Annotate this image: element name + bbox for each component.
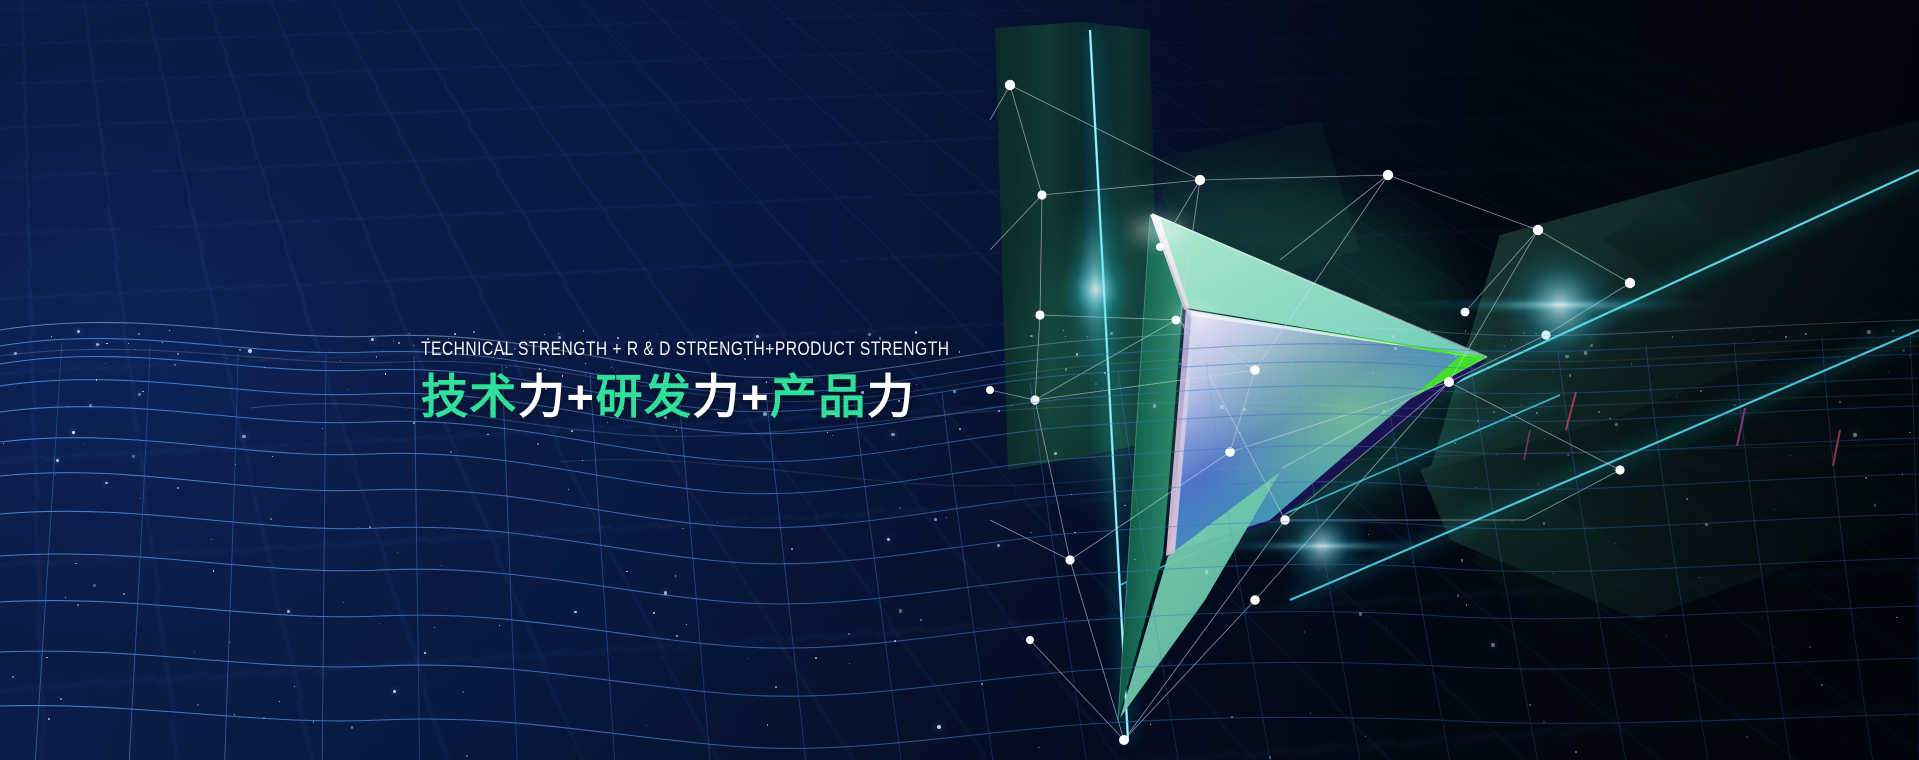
particle-dot — [959, 428, 961, 430]
particle-dot — [1134, 559, 1135, 560]
particle-dot — [1615, 543, 1616, 544]
particle-dot — [1700, 390, 1702, 392]
particle-dot — [1569, 374, 1571, 376]
particle-dot — [1538, 483, 1539, 484]
particle-dot — [242, 435, 245, 438]
particle-dot — [887, 538, 890, 541]
particle-dot — [1543, 522, 1545, 524]
particle-dot — [868, 333, 871, 336]
particle-dot — [848, 633, 850, 635]
particle-dot — [60, 698, 62, 700]
particle-dot — [1493, 411, 1495, 413]
particle-dot — [1344, 598, 1345, 599]
particle-dot — [1746, 736, 1748, 738]
particle-dot — [287, 610, 290, 613]
particle-dot — [1666, 635, 1667, 636]
particle-dot — [899, 507, 901, 509]
particle-dot — [1853, 433, 1857, 437]
particle-dot — [1553, 371, 1554, 372]
particle-dot — [84, 444, 85, 445]
particle-dot — [383, 350, 384, 351]
particle-dot — [646, 725, 648, 727]
particle-dot — [1038, 747, 1039, 748]
lens-flares — [1058, 175, 1710, 592]
particle-dot — [1839, 401, 1841, 403]
particle-dot — [1504, 346, 1505, 347]
particle-dot — [1705, 523, 1708, 526]
eyebrow-tagline: TECHNICAL STRENGTH + R & D STRENGTH+PROD… — [421, 340, 950, 360]
particle-dot — [1888, 371, 1889, 372]
particle-dot — [424, 652, 427, 655]
face-inner-iridescent — [1170, 312, 1460, 552]
particle-dot — [263, 717, 265, 719]
particle-dot — [1552, 573, 1554, 575]
node-network — [990, 85, 1630, 740]
particle-dot — [1307, 362, 1308, 363]
particle-dot — [832, 435, 833, 436]
particle-dot — [132, 455, 135, 458]
particle-dot — [313, 721, 314, 722]
particle-dot — [1226, 342, 1227, 343]
particle-dot — [51, 336, 52, 337]
fold-edge-inner — [1166, 308, 1196, 556]
particle-dot — [626, 571, 627, 572]
particle-dot — [1429, 330, 1431, 332]
particle-dot — [1809, 646, 1811, 648]
particle-dot — [1785, 336, 1787, 338]
particle-dot — [1346, 330, 1349, 333]
particle-dot — [1394, 347, 1397, 350]
particle-dot — [1104, 372, 1106, 374]
particle-dot — [1206, 526, 1207, 527]
particle-dot — [1220, 405, 1223, 408]
particle-dot — [1761, 617, 1762, 618]
particle-dot — [1392, 335, 1395, 338]
particle-dot — [385, 373, 387, 375]
network-nodes — [986, 80, 1635, 745]
particle-dot — [393, 340, 394, 341]
particle-dot — [46, 657, 48, 659]
particle-dot — [1590, 344, 1594, 348]
particle-dot — [894, 640, 896, 642]
particle-dot — [1304, 544, 1305, 545]
particle-dot — [1054, 452, 1057, 455]
particle-dot — [1821, 684, 1823, 686]
particle-dot — [1511, 521, 1512, 522]
particle-dot — [1790, 455, 1791, 456]
particle-dot — [466, 755, 468, 757]
particle-dot — [717, 522, 718, 523]
particle-dot — [177, 353, 179, 355]
particle-dot — [1735, 430, 1736, 431]
particle-dot — [462, 691, 464, 693]
particle-dot — [1095, 383, 1097, 385]
particle-dot — [574, 611, 577, 614]
particle-dot — [1252, 518, 1253, 519]
particle-dot — [1166, 638, 1167, 639]
particle-dot — [441, 565, 442, 566]
particle-dot — [162, 342, 163, 343]
particle-dot — [937, 725, 941, 729]
particle-dot — [1398, 330, 1399, 331]
particle-dot — [544, 334, 545, 335]
particle-dot — [1521, 404, 1523, 406]
headline-segment-6: 产品 — [770, 370, 867, 423]
particle-dot — [294, 686, 295, 687]
particle-dot — [1873, 341, 1875, 343]
particle-dot — [239, 349, 241, 351]
face-upper-mint — [1152, 213, 1487, 358]
particle-dot — [1615, 423, 1618, 426]
fold-edge-top — [1150, 214, 1190, 310]
particle-dot — [264, 367, 266, 369]
particle-dot — [93, 584, 96, 587]
particle-dot — [1616, 430, 1617, 431]
particle-dot — [775, 686, 777, 688]
particle-dot — [1252, 333, 1253, 334]
particle-dot — [1335, 347, 1337, 349]
particle-dot — [675, 575, 677, 577]
particle-dot — [1071, 494, 1072, 495]
particle-dot — [322, 428, 323, 429]
particle-dot — [1465, 330, 1466, 331]
particle-dot — [1496, 454, 1497, 455]
headline-segment-4: 力 — [692, 370, 741, 423]
particle-dot — [1388, 406, 1390, 408]
particle-dot — [1865, 477, 1867, 479]
particle-dot — [1129, 537, 1130, 538]
particle-dot — [75, 563, 77, 565]
particle-dot — [827, 432, 828, 433]
particle-dot — [1065, 336, 1066, 337]
particle-dot — [849, 663, 850, 664]
particle-dot — [487, 434, 489, 436]
particle-dot — [213, 570, 215, 572]
particle-dot — [1466, 604, 1467, 605]
particle-dot — [1310, 712, 1311, 713]
particle-dot — [1470, 344, 1471, 345]
face-tail-mint — [1120, 472, 1280, 718]
particle-dot — [72, 431, 75, 434]
particle-dot — [934, 518, 937, 521]
particle-dot — [1153, 404, 1156, 407]
particle-dot — [376, 356, 378, 358]
particle-dot — [14, 352, 18, 356]
particle-dot — [1769, 331, 1771, 333]
particle-dot — [1182, 372, 1185, 375]
particle-dot — [1909, 432, 1910, 433]
particle-dot — [1304, 631, 1306, 633]
particle-dot — [1575, 751, 1577, 753]
particle-dot — [1490, 338, 1491, 339]
particle-dot — [1333, 367, 1334, 368]
particle-dot — [1359, 612, 1363, 616]
particle-dot — [434, 627, 435, 628]
particle-dot — [450, 451, 452, 453]
particle-dot — [1905, 716, 1906, 717]
particle-dot — [1565, 355, 1568, 358]
headline-segment-0: 技术 — [421, 370, 518, 423]
particle-dot — [1892, 330, 1894, 332]
particle-dot — [1181, 455, 1182, 456]
particle-dot — [1805, 333, 1806, 334]
particle-dot — [1686, 498, 1688, 500]
particle-dot — [279, 701, 280, 702]
particle-dot — [128, 343, 129, 344]
particle-dot — [791, 548, 793, 550]
particle-dot — [1580, 473, 1581, 474]
particle-dot — [67, 406, 68, 407]
particle-dot — [398, 342, 400, 344]
particle-dot — [1614, 469, 1615, 470]
particle-dot — [1074, 532, 1076, 534]
particle-dot — [1699, 577, 1700, 578]
cyan-light-beams — [1090, 30, 1919, 740]
headline-segment-2: + — [567, 370, 596, 423]
particle-dot — [340, 360, 341, 361]
particle-dot — [915, 331, 918, 334]
particle-dot — [1774, 509, 1775, 510]
particle-dot — [1269, 756, 1272, 759]
particle-dot — [371, 338, 374, 341]
particle-dot — [1368, 534, 1369, 535]
particle-dot — [329, 350, 330, 351]
particle-dot — [413, 422, 415, 424]
particle-dot — [1412, 562, 1413, 563]
particle-dot — [899, 609, 903, 613]
particle-dot — [1030, 532, 1032, 534]
particle-dot — [997, 544, 1000, 547]
particle-dot — [1372, 372, 1374, 374]
particle-dot — [571, 430, 573, 432]
particle-dot — [211, 539, 212, 540]
particle-dot — [105, 363, 106, 364]
particle-dot — [582, 460, 583, 461]
particle-dot — [142, 391, 144, 393]
particle-dot — [1063, 330, 1064, 331]
particle-dot — [1243, 408, 1246, 411]
headline-segment-7: 力 — [867, 370, 916, 423]
particle-dot — [1529, 704, 1531, 706]
particle-dot — [197, 704, 199, 706]
particle-dot — [1734, 404, 1736, 406]
particle-dot — [946, 517, 947, 518]
particle-dot — [138, 393, 141, 396]
headline-segment-5: + — [741, 370, 770, 423]
particle-dot — [1567, 454, 1569, 456]
face-indigo-shadow — [1168, 310, 1487, 560]
hero-copy: TECHNICAL STRENGTH + R & D STRENGTH+PROD… — [421, 340, 1082, 420]
particle-dot — [1697, 524, 1698, 525]
particle-dot — [1239, 432, 1241, 434]
particle-dot — [664, 591, 667, 594]
particle-dot — [351, 726, 354, 729]
particle-dot — [1598, 411, 1600, 413]
particle-dot — [1318, 349, 1320, 351]
particle-dot — [1222, 339, 1223, 340]
particle-dot — [1267, 482, 1270, 485]
particle-dot — [1225, 356, 1226, 357]
particle-dot — [1365, 736, 1366, 737]
particle-dot — [235, 464, 236, 465]
particle-dot — [1457, 594, 1460, 597]
particle-dot — [1205, 570, 1209, 574]
fold-edge-upper-right — [1190, 310, 1487, 358]
particle-dot — [369, 526, 371, 528]
particle-dot — [1902, 349, 1905, 352]
particle-dot — [920, 619, 922, 621]
particle-dot — [1491, 643, 1495, 647]
particle-dot — [234, 714, 235, 715]
particle-dot — [1773, 391, 1774, 392]
particle-dot — [767, 724, 769, 726]
hero-banner: TECHNICAL STRENGTH + R & D STRENGTH+PROD… — [0, 0, 1919, 760]
particle-dot — [1535, 333, 1536, 334]
particle-dot — [1867, 330, 1871, 334]
particle-dot — [347, 389, 348, 390]
particle-dot — [1573, 330, 1575, 332]
particle-dot — [454, 333, 456, 335]
particle-dot — [1087, 336, 1088, 337]
particle-dot — [1030, 335, 1032, 337]
particle-dot — [1631, 363, 1632, 364]
headline-segment-1: 力 — [518, 370, 567, 423]
particle-dot — [65, 597, 66, 598]
particle-dot — [653, 612, 655, 614]
particle-dot — [686, 624, 687, 625]
particle-dot — [1217, 677, 1218, 678]
particle-dot — [1536, 412, 1538, 414]
particle-dot — [48, 718, 50, 720]
particle-dot — [1383, 410, 1385, 412]
particle-dot — [1672, 336, 1673, 337]
particle-dot — [1461, 559, 1464, 562]
particle-dot — [1609, 418, 1611, 420]
page-title: 技术力+研发力+产品力 — [421, 373, 1082, 420]
particle-dot — [815, 657, 817, 659]
particle-dot — [1231, 716, 1233, 718]
particle-dot — [1896, 617, 1898, 619]
particle-dot — [676, 430, 677, 431]
particle-dot — [413, 345, 414, 346]
accent-ticks — [1304, 392, 1840, 498]
particle-dot — [1523, 332, 1525, 334]
particle-dot — [1909, 355, 1911, 357]
headline-segment-3: 研发 — [595, 370, 692, 423]
particle-dot — [1300, 333, 1303, 336]
particle-dot — [229, 642, 230, 643]
particle-dot — [1455, 355, 1457, 357]
particle-dot — [537, 443, 539, 445]
particle-dot — [1238, 588, 1239, 589]
particle-dot — [409, 333, 410, 334]
particle-dot — [1590, 337, 1591, 338]
prism-arrow — [1035, 180, 1487, 720]
particle-dot — [1676, 396, 1677, 397]
particle-dot — [1204, 652, 1205, 653]
particle-dot — [747, 658, 748, 659]
particle-dot — [1477, 420, 1479, 422]
particle-dot — [682, 528, 683, 529]
particle-dot — [1840, 740, 1841, 741]
particle-dot — [343, 602, 345, 604]
particle-dot — [397, 552, 398, 553]
particle-dot — [558, 333, 559, 334]
particle-dot — [270, 518, 272, 520]
particle-dot — [379, 623, 380, 624]
particle-dot — [1307, 397, 1308, 398]
particle-dot — [106, 343, 108, 345]
particle-dot — [194, 651, 195, 652]
particle-dot — [105, 482, 108, 485]
particle-dot — [358, 527, 359, 528]
particle-dot — [177, 487, 179, 489]
particle-dot — [1124, 505, 1126, 507]
particle-dot — [227, 358, 228, 359]
particle-dot — [393, 690, 396, 693]
particle-dot — [499, 625, 500, 626]
particle-dot — [123, 593, 125, 595]
particle-dot — [89, 404, 92, 407]
particle-dot — [248, 349, 252, 353]
particle-dot — [135, 349, 136, 350]
particle-dot — [1150, 724, 1151, 725]
particle-dot — [473, 331, 475, 333]
particle-dot — [1110, 332, 1113, 335]
particle-dot — [1903, 517, 1904, 518]
particle-dot — [891, 433, 895, 437]
particle-dot — [77, 330, 80, 333]
particle-dot — [1107, 355, 1108, 356]
particle-dot — [1475, 487, 1476, 488]
particle-dot — [140, 498, 141, 499]
particle-dot — [676, 635, 678, 637]
particle-dot — [1910, 342, 1911, 343]
particle-dot — [1874, 504, 1877, 507]
particle-dot — [169, 330, 170, 331]
particle-dot — [1066, 618, 1068, 620]
particle-dot — [12, 676, 14, 678]
particle-dot — [1902, 473, 1904, 475]
particle-dot — [945, 421, 946, 422]
particle-dot — [99, 344, 100, 345]
particle-dot — [1511, 340, 1512, 341]
face-left-teal — [1118, 215, 1183, 720]
particle-dot — [138, 333, 140, 335]
particle-dot — [1454, 442, 1456, 444]
particle-dot — [1386, 627, 1387, 628]
particle-dot — [1194, 377, 1195, 378]
particle-dot — [174, 364, 176, 366]
particle-dot — [3, 443, 5, 445]
particle-dot — [568, 489, 569, 490]
particle-dot — [1157, 393, 1158, 394]
particle-dot — [55, 474, 56, 475]
particle-dot — [1543, 721, 1545, 723]
particle-dot — [1544, 438, 1545, 439]
particle-dot — [1752, 339, 1753, 340]
particle-dot — [1179, 363, 1181, 365]
particle-dot — [657, 334, 658, 335]
particle-dot — [1689, 339, 1690, 340]
particle-dot — [583, 330, 585, 332]
face-bright-green — [1186, 310, 1487, 468]
particle-dot — [96, 343, 99, 346]
particle-dot — [981, 683, 983, 685]
particle-dot — [96, 379, 98, 381]
particle-dot — [1304, 359, 1305, 360]
particle-dot — [1162, 525, 1163, 526]
